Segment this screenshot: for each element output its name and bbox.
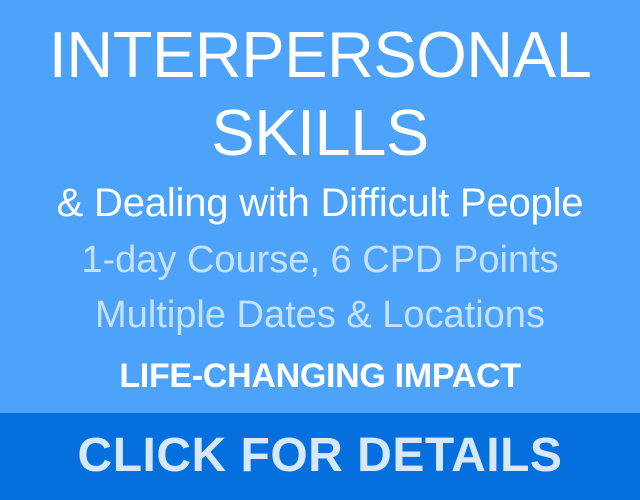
banner-content-area: INTERPERSONAL SKILLS & Dealing with Diff… (0, 0, 640, 413)
course-detail-dates-locations: Multiple Dates & Locations (0, 294, 640, 336)
cta-button[interactable]: CLICK FOR DETAILS (0, 413, 640, 500)
headline-line-1: INTERPERSONAL (0, 22, 640, 88)
course-detail-duration-cpd: 1-day Course, 6 CPD Points (0, 239, 640, 281)
cta-button-label: CLICK FOR DETAILS (78, 431, 563, 483)
headline-line-2: SKILLS (0, 100, 640, 166)
promo-banner[interactable]: INTERPERSONAL SKILLS & Dealing with Diff… (0, 0, 640, 500)
banner-tagline: LIFE-CHANGING IMPACT (0, 357, 640, 395)
banner-subtitle: & Dealing with Difficult People (0, 181, 640, 225)
